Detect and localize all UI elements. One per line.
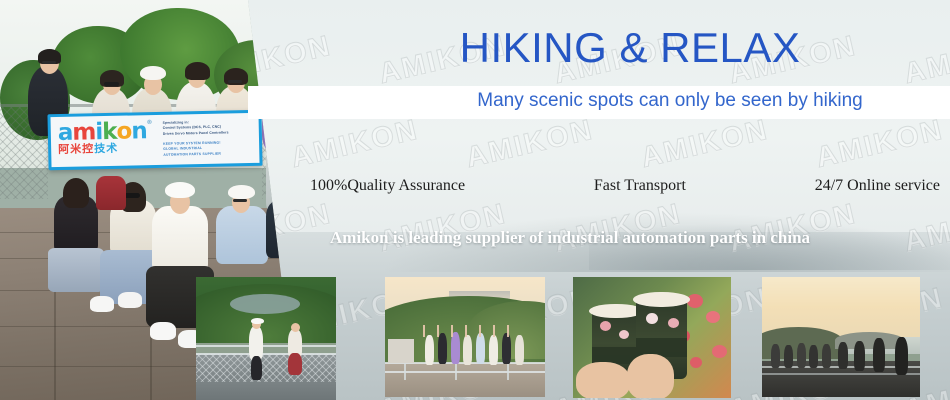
railing-mesh xyxy=(196,354,336,381)
person-seated-blue-shirt xyxy=(216,206,268,264)
feature-quality-assurance: 100%Quality Assurance xyxy=(310,177,465,195)
logo-chinese-char: 控 xyxy=(82,143,94,155)
company-tagline: Amikon is leading supplier of industrial… xyxy=(330,228,930,248)
crowd-silhouette xyxy=(838,342,848,369)
person-hair xyxy=(63,178,89,208)
person-seated-center xyxy=(152,206,208,272)
deck-floor xyxy=(385,363,545,397)
person-arms-up xyxy=(489,335,498,365)
person-arms-up xyxy=(515,335,524,365)
person-red-dress xyxy=(96,176,126,210)
sunset-seaview-crowd xyxy=(762,277,920,397)
cup-floral-print xyxy=(646,313,658,324)
amikon-banner-sign: amikon® 阿米控技术 Specializing in:Control Sy… xyxy=(47,110,262,170)
logo-letter: n xyxy=(131,120,147,143)
crowd-silhouette xyxy=(822,344,831,368)
hillside xyxy=(196,284,336,343)
crowd-silhouette xyxy=(784,345,793,368)
logo-chinese-char: 术 xyxy=(106,143,118,155)
crowd-silhouette xyxy=(873,338,885,372)
white-cap-icon xyxy=(251,318,264,324)
railing-bar xyxy=(385,371,545,373)
railing-post xyxy=(404,361,406,380)
flower-blossom xyxy=(706,311,720,323)
logo-letter: a xyxy=(58,122,73,145)
person-head xyxy=(291,323,300,332)
person-legs xyxy=(251,356,262,380)
crowd-silhouette xyxy=(797,343,806,368)
lake-water xyxy=(230,294,300,314)
hiking-relax-banner: AMIKONAMIKONAMIKONAMIKONAMIKONAMIKONAMIK… xyxy=(0,0,950,400)
cup-lid xyxy=(633,292,690,308)
raised-arms xyxy=(423,325,519,337)
eyeglasses-icon xyxy=(233,199,247,202)
floral-coffee-cups-in-hands xyxy=(573,277,731,398)
cup-floral-print xyxy=(600,321,611,331)
hand-holding-cup xyxy=(576,362,630,398)
crowd-silhouette xyxy=(809,345,818,368)
white-cap-icon xyxy=(165,182,195,198)
group-cheering-on-mountain-deck xyxy=(385,277,545,397)
crowd-silhouette xyxy=(895,337,908,375)
feature-online-service: 24/7 Online service xyxy=(815,177,940,195)
white-cap-icon xyxy=(140,66,166,80)
cup-lid xyxy=(589,304,643,319)
logo-letter: k xyxy=(102,121,117,144)
sign-slogan-line: AUTOMATION PARTS SUPPLIER xyxy=(163,151,255,158)
sign-specialization-text: Specializing in:Control Systems (DCS, PL… xyxy=(163,119,255,137)
sign-slogan-text: KEEP YOUR SYSTEM RUNNING!GLOBAL INDUSTRI… xyxy=(163,140,255,158)
amikon-logo-wordmark: amikon® xyxy=(58,120,152,145)
amikon-logo-chinese: 阿米控技术 xyxy=(58,143,152,156)
feature-list: 100%Quality Assurance Fast Transport 24/… xyxy=(310,172,940,200)
cup-floral-print xyxy=(668,318,679,328)
white-sneaker xyxy=(118,292,142,308)
feature-fast-transport: Fast Transport xyxy=(594,177,686,195)
eyeglasses-icon xyxy=(228,80,242,83)
person-arms-up xyxy=(438,333,447,364)
registered-mark-icon: ® xyxy=(146,120,151,126)
person-arms-up xyxy=(463,335,472,365)
visitors-at-overlook-railing xyxy=(196,277,336,400)
page-title: HIKING & RELAX xyxy=(430,24,830,72)
white-sneaker xyxy=(150,322,176,340)
logo-letter: m xyxy=(72,121,95,144)
white-cap-icon xyxy=(228,185,255,199)
shelter-box xyxy=(388,339,414,363)
person-red-skirt xyxy=(288,353,302,375)
amikon-logo: amikon® 阿米控技术 xyxy=(58,120,153,156)
logo-chinese-char: 米 xyxy=(70,144,82,156)
person-arms-up xyxy=(502,333,511,364)
person-hair xyxy=(185,62,210,80)
railing-bar xyxy=(196,345,336,347)
crowd-silhouette xyxy=(771,344,780,368)
flower-blossom xyxy=(690,357,702,368)
person-jeans xyxy=(48,248,104,292)
flower-blossom xyxy=(712,345,727,358)
logo-letter: o xyxy=(116,120,131,143)
hand-holding-cup xyxy=(627,354,674,398)
person-arms-up xyxy=(476,333,485,364)
eyeglasses-icon xyxy=(42,61,56,64)
crowd-silhouette xyxy=(854,341,865,371)
white-sneaker xyxy=(90,296,114,312)
sunglasses-icon xyxy=(124,193,140,198)
sunglasses-icon xyxy=(104,82,119,86)
logo-chinese-char: 技 xyxy=(94,143,106,155)
logo-chinese-char: 阿 xyxy=(58,144,70,156)
person-arms-up xyxy=(425,335,434,365)
page-subtitle: Many scenic spots can only be seen by hi… xyxy=(420,90,920,112)
sign-spec-line: Drives Servo Motors Panel Controllers xyxy=(163,129,255,136)
